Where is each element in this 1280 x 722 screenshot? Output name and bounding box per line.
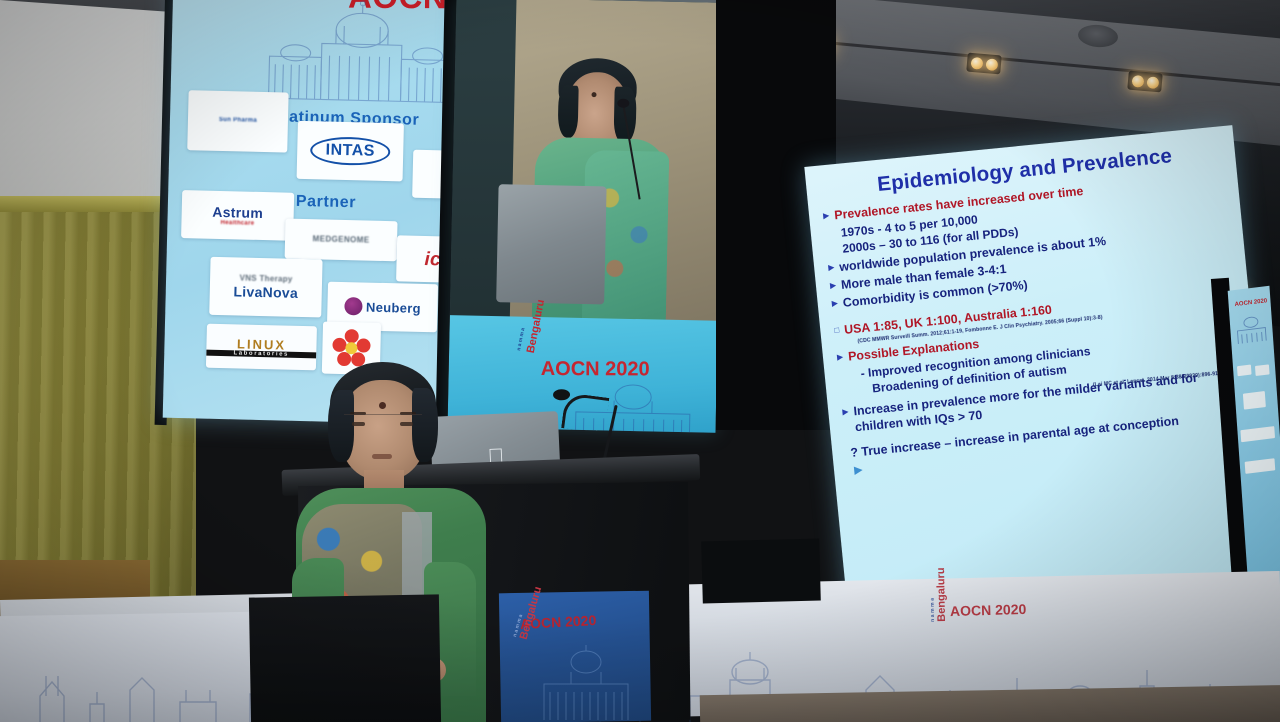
bullet-arrow-icon: ▶ [831,295,839,311]
bullet-arrow-icon: ▶ [827,259,835,275]
video-namma-bengaluru: namma Bengaluru [507,348,562,379]
bullet-arrow-icon: ▶ [822,208,830,224]
livanova-logo: LivaNova [233,284,298,300]
video-microphone-head-icon [617,99,629,108]
video-laptop:  [496,184,606,304]
vidhana-soudha-illustration [260,0,463,108]
stage-skirt-branding: namma Bengaluru [929,567,948,622]
speaker-mouth [372,454,392,459]
neuberg-logo: Neuberg [366,300,421,314]
medgenome-logo: MEDGENOME [313,235,370,244]
linux-logo: LINUX [237,337,286,351]
stage-equipment-box [701,538,821,603]
conference-hall-photo: AOCN 2020 namma Bengaluru Plati [0,0,1280,722]
partner-logo-card: VNS Therapy LivaNova [209,257,322,318]
ceiling-spotlight-icon [966,53,1002,75]
stage-skirt-title: AOCN 2020 [950,601,1027,619]
speaker-eye [400,422,413,426]
neuberg-mark-icon [344,297,362,315]
right-screen-logo [1255,364,1270,376]
bullet-arrow-icon: ▶ [842,404,850,420]
presentation-slide-screen: Epidemiology and Prevalence ▶ Prevalence… [804,125,1275,610]
right-screen-logo [1240,426,1275,442]
podium-banner-building-icon [538,644,634,722]
partner-logo-card: MEDGENOME [285,219,398,262]
platinum-logo-card: INTAS [297,121,404,182]
right-screen-logo [1237,365,1252,377]
speaker-eye [352,422,365,426]
intas-logo: INTAS [310,136,390,166]
video-speaker-hair-left [558,85,579,137]
right-screen-logo [1245,458,1276,474]
video-speaker-bindi [591,92,596,97]
linux-sub: Laboratories [206,349,316,358]
right-screen-logo [1243,391,1266,410]
vns-therapy-logo: VNS Therapy [239,274,292,283]
right-screen-title: AOCN 2020 [1234,298,1267,308]
bullet-arrow-icon: ▶ [836,349,844,365]
speaker-bindi [379,402,386,409]
platinum-logo-card: Sun Pharma [187,90,288,152]
astrum-sub: Healthcare [221,219,255,226]
partner-logo-card: Astrum Healthcare [181,190,294,241]
bullet-arrow-icon: ▶ [829,277,837,293]
bullet-square-icon: □ [834,322,840,338]
sun-pharma-logo: Sun Pharma [219,115,257,127]
right-screen-building-icon [1233,312,1269,346]
foreground-shadow [249,594,441,722]
ceiling-spotlight-icon [1127,71,1163,93]
astrum-logo: Astrum [212,204,263,219]
